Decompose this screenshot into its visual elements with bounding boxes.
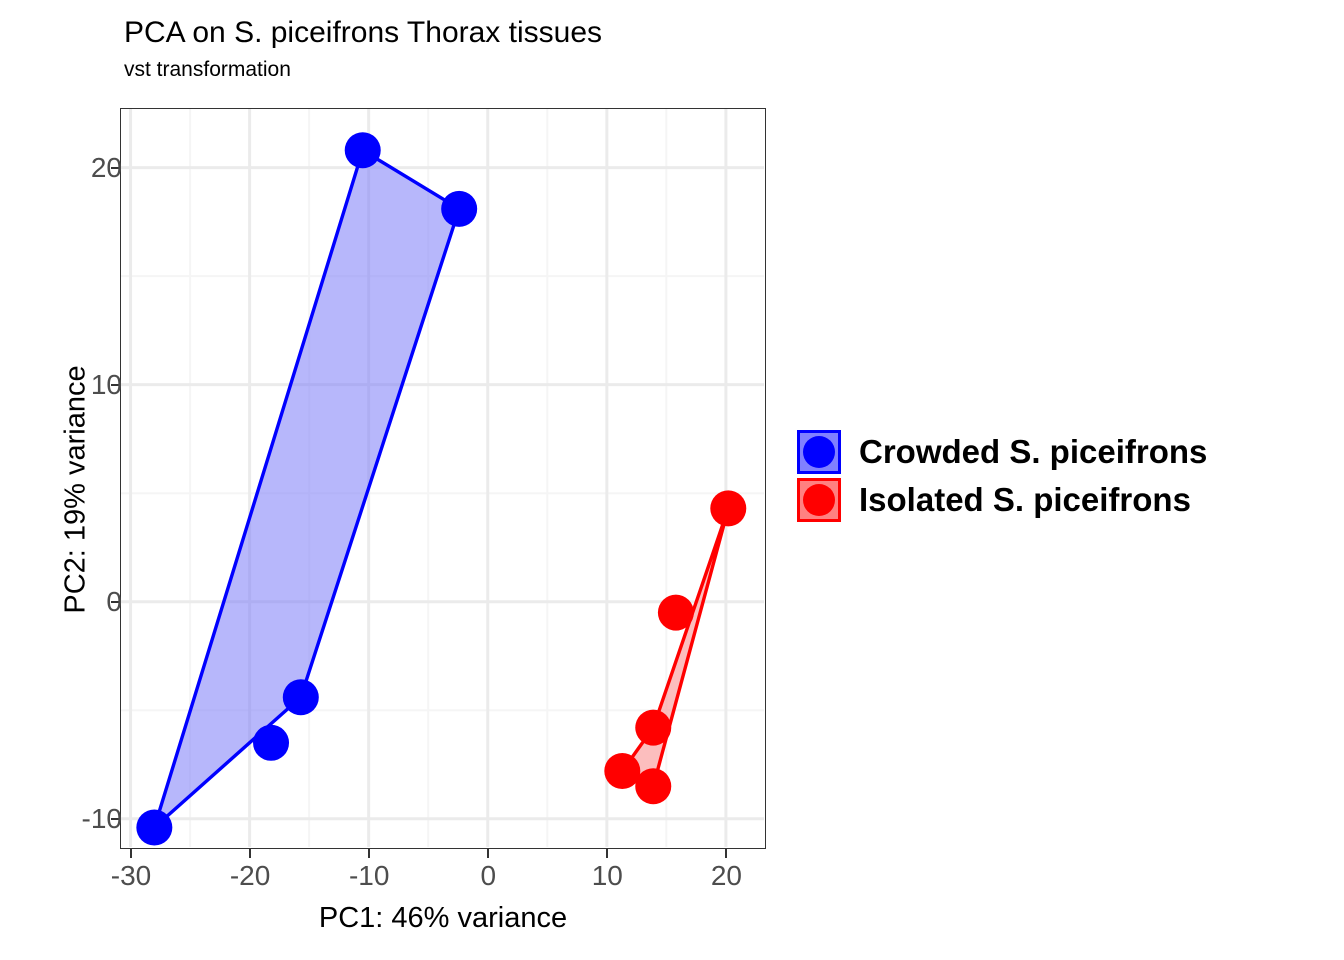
data-point-isolated-4[interactable] [635,768,671,804]
x-tick-label: 10 [592,860,623,892]
legend-item-label: Crowded S. piceifrons [859,434,1207,470]
chart-subtitle: vst transformation [124,58,291,82]
x-tick-mark [249,849,251,858]
data-point-crowded-1[interactable] [441,191,477,227]
legend-key-point-icon [803,436,835,468]
legend-item-isolated[interactable]: Isolated S. piceifrons [797,476,1207,524]
convex-hull-crowded [154,150,459,827]
legend-item-label: Isolated S. piceifrons [859,482,1191,518]
plot-panel [120,108,766,849]
legend-key-point-icon [803,484,835,516]
chart-canvas: PCA on S. piceifrons Thorax tissues vst … [0,0,1344,960]
chart-title: PCA on S. piceifrons Thorax tissues [124,16,602,50]
data-point-crowded-2[interactable] [283,679,319,715]
data-point-crowded-0[interactable] [345,132,381,168]
x-tick-label: 20 [711,860,742,892]
x-tick-mark [130,849,132,858]
legend-item-crowded[interactable]: Crowded S. piceifrons [797,428,1207,476]
data-point-isolated-2[interactable] [635,710,671,746]
data-point-crowded-4[interactable] [136,809,172,845]
legend-key-swatch [797,478,841,522]
x-tick-mark [725,849,727,858]
data-point-crowded-3[interactable] [253,725,289,761]
legend: Crowded S. piceifronsIsolated S. piceifr… [797,428,1207,524]
data-point-isolated-1[interactable] [658,595,694,631]
x-tick-mark [487,849,489,858]
plot-area [121,109,764,847]
convex-hull-isolated [622,508,728,786]
legend-key-swatch [797,430,841,474]
y-axis-label: PC2: 19% variance [60,120,93,860]
x-tick-mark [368,849,370,858]
x-tick-label: 0 [480,860,496,892]
x-tick-mark [606,849,608,858]
x-axis-label: PC1: 46% variance [120,902,766,935]
x-tick-label: -20 [230,860,270,892]
y-tick-label: 20 [91,152,122,184]
x-tick-label: -30 [111,860,151,892]
data-point-isolated-3[interactable] [604,753,640,789]
y-tick-label: 10 [91,369,122,401]
y-tick-label: 0 [106,586,122,618]
x-tick-label: -10 [349,860,389,892]
data-point-isolated-0[interactable] [710,490,746,526]
